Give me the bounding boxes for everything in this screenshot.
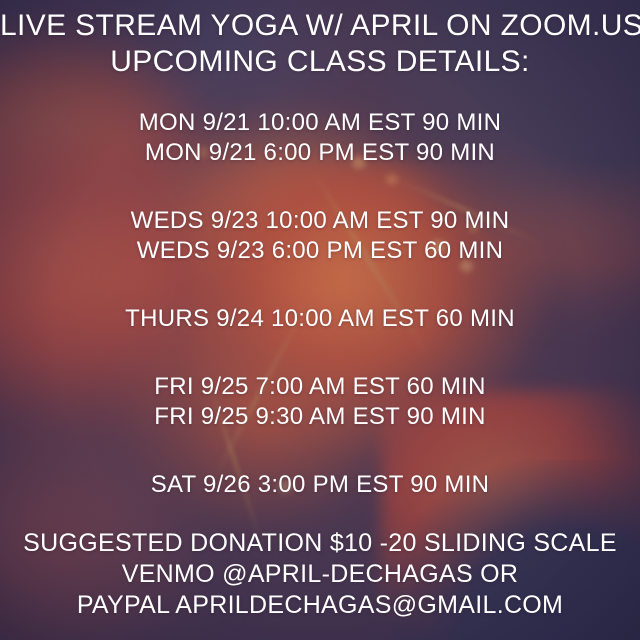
payment-details: SUGGESTED DONATION $10 -20 SLIDING SCALE… bbox=[0, 528, 640, 621]
schedule-line: FRI 9/25 7:00 AM EST 60 MIN bbox=[0, 372, 640, 402]
suggested-donation-line: SUGGESTED DONATION $10 -20 SLIDING SCALE bbox=[0, 528, 640, 559]
schedule-line: FRI 9/25 9:30 AM EST 90 MIN bbox=[0, 402, 640, 432]
schedule-line: MON 9/21 10:00 AM EST 90 MIN bbox=[0, 108, 640, 138]
title-line-main: LIVE STREAM YOGA W/ APRIL ON ZOOM.US bbox=[0, 8, 640, 44]
schedule-line: WEDS 9/23 10:00 AM EST 90 MIN bbox=[0, 206, 640, 236]
schedule-line: SAT 9/26 3:00 PM EST 90 MIN bbox=[0, 470, 640, 500]
schedule-line: WEDS 9/23 6:00 PM EST 60 MIN bbox=[0, 236, 640, 266]
schedule-line: MON 9/21 6:00 PM EST 90 MIN bbox=[0, 138, 640, 168]
schedule-group-sat: SAT 9/26 3:00 PM EST 90 MIN bbox=[0, 470, 640, 500]
schedule-group-weds: WEDS 9/23 10:00 AM EST 90 MIN WEDS 9/23 … bbox=[0, 206, 640, 266]
schedule-group-mon: MON 9/21 10:00 AM EST 90 MIN MON 9/21 6:… bbox=[0, 108, 640, 168]
schedule-group-fri: FRI 9/25 7:00 AM EST 60 MIN FRI 9/25 9:3… bbox=[0, 372, 640, 432]
class-schedule-list: MON 9/21 10:00 AM EST 90 MIN MON 9/21 6:… bbox=[0, 108, 640, 500]
title-line-subtitle: UPCOMING CLASS DETAILS: bbox=[0, 44, 640, 80]
paypal-email-line: PAYPAL APRILDECHAGAS@GMAIL.COM bbox=[0, 590, 640, 621]
schedule-group-thurs: THURS 9/24 10:00 AM EST 60 MIN bbox=[0, 304, 640, 334]
yoga-class-schedule-poster: LIVE STREAM YOGA W/ APRIL ON ZOOM.US UPC… bbox=[0, 0, 640, 640]
venmo-handle-line: VENMO @APRIL-DECHAGAS OR bbox=[0, 559, 640, 590]
poster-text-layer: LIVE STREAM YOGA W/ APRIL ON ZOOM.US UPC… bbox=[0, 0, 640, 640]
poster-heading: LIVE STREAM YOGA W/ APRIL ON ZOOM.US UPC… bbox=[0, 8, 640, 80]
schedule-line: THURS 9/24 10:00 AM EST 60 MIN bbox=[0, 304, 640, 334]
